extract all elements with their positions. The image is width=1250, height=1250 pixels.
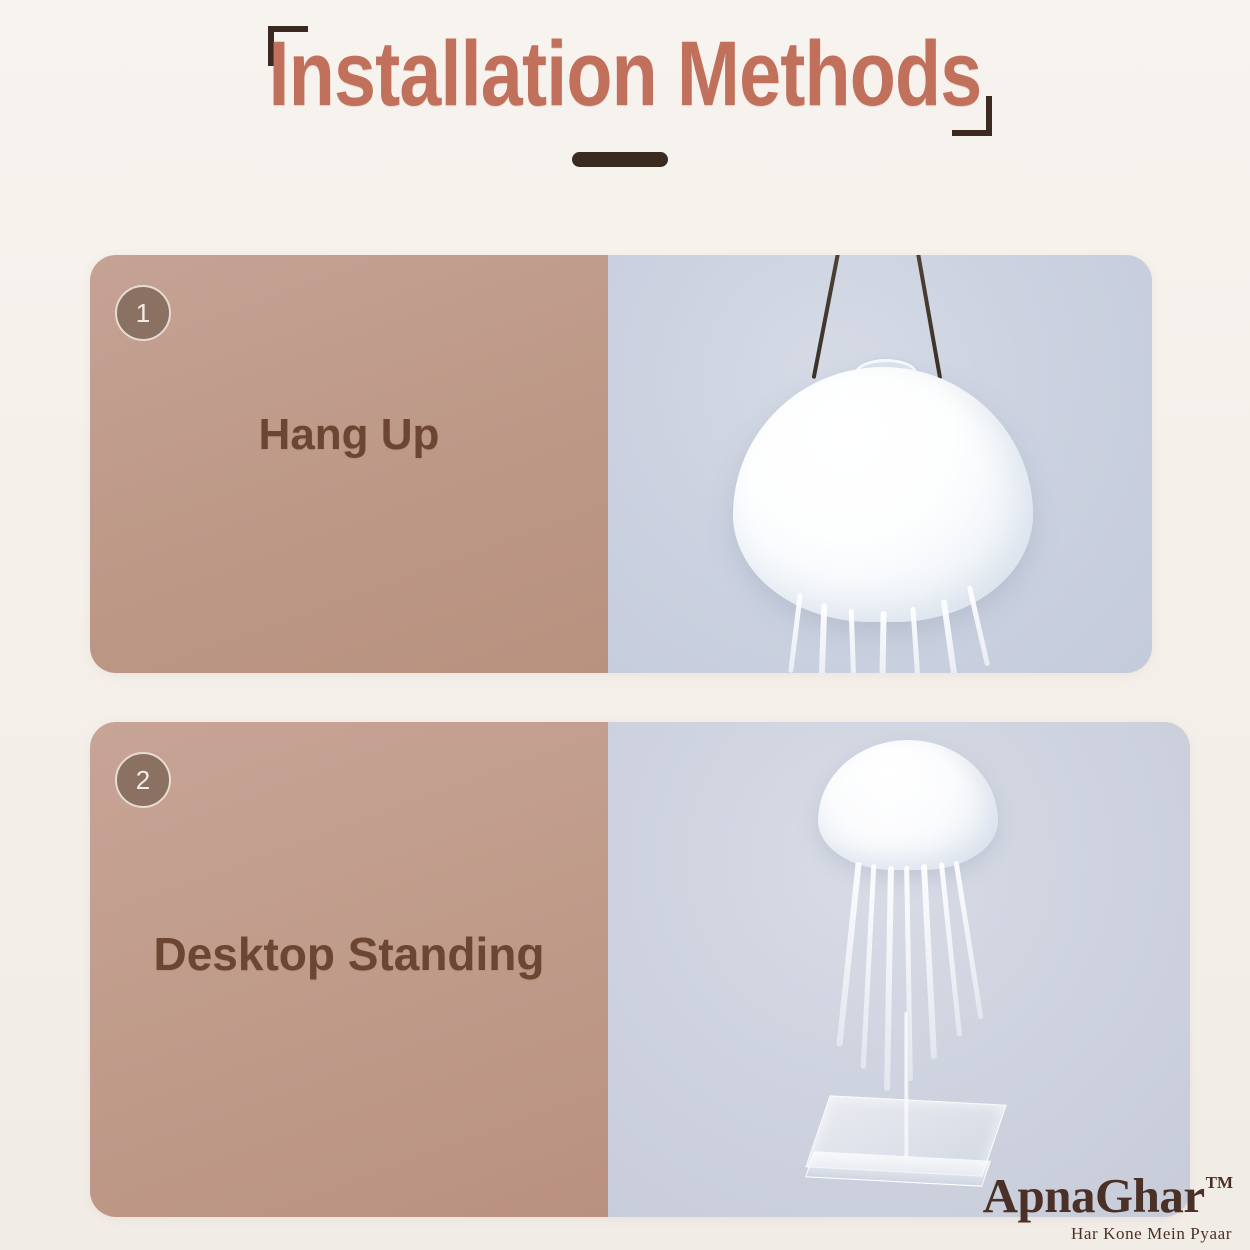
brand-tagline: Har Kone Mein Pyaar (983, 1225, 1232, 1242)
method-photo-desktop-standing (608, 722, 1190, 1217)
jellyfish-tentacle (879, 611, 886, 673)
jellyfish-tentacle (921, 864, 937, 1059)
brand-watermark: ApnaGharTM Har Kone Mein Pyaar (983, 1171, 1232, 1242)
jellyfish-dome (818, 740, 998, 870)
method-card-text-panel: 2 Desktop Standing (90, 722, 608, 1217)
jellyfish-dome (733, 367, 1033, 622)
method-card-text-panel: 1 Hang Up (90, 255, 608, 673)
jellyfish-tentacle (788, 593, 803, 673)
hanging-cord-right (916, 255, 942, 379)
header: Installation Methods (0, 0, 1250, 200)
hanging-cord-left (812, 255, 840, 379)
step-number-badge: 2 (115, 752, 171, 808)
method-label: Desktop Standing (90, 927, 608, 981)
method-label: Hang Up (90, 410, 608, 460)
method-card-hang-up: 1 Hang Up (90, 255, 1152, 673)
method-photo-hang-up (608, 255, 1152, 673)
title-divider-dash (572, 152, 668, 167)
installation-methods-infographic: Installation Methods 1 Hang Up 2 Desktop… (0, 0, 1250, 1250)
jellyfish-tentacle (954, 861, 984, 1020)
jellyfish-tentacle (884, 866, 894, 1091)
method-card-desktop-standing: 2 Desktop Standing (90, 722, 1190, 1217)
step-number-badge: 1 (115, 285, 171, 341)
jellyfish-tentacle (836, 862, 861, 1047)
trademark-symbol: TM (1206, 1173, 1233, 1192)
corner-bracket-bottom-right-icon (952, 96, 992, 136)
jellyfish-tentacle (861, 864, 877, 1069)
brand-name: ApnaGhar (983, 1171, 1205, 1220)
